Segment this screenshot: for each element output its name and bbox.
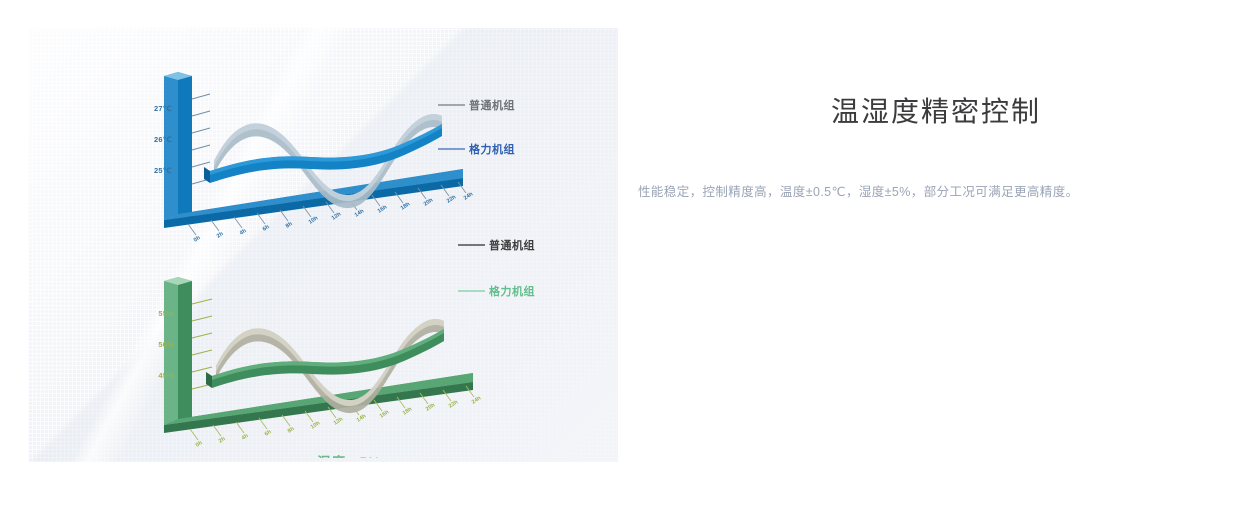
feature-text-column: 温湿度精密控制 性能稳定，控制精度高，温度±0.5℃，湿度±5%，部分工况可满足… (636, 92, 1236, 232)
x-tick-label: 14h (356, 413, 368, 424)
x-tick-label: 8h (287, 426, 296, 435)
legend-label-ordinary-unit: 普通机组 (469, 98, 515, 112)
x-tick-label: 16h (379, 409, 391, 420)
chart-caption-humidity: 湿度 ±5% (317, 454, 381, 458)
x-tick-label: 2h (218, 436, 227, 445)
x-tick-label: 24h (463, 191, 475, 202)
x-tick-label: 10h (310, 420, 322, 431)
x-tick-label: 20h (423, 197, 435, 208)
page-title: 温湿度精密控制 (636, 92, 1236, 132)
x-tick-label: 22h (446, 194, 458, 205)
y-tick-label: 25℃ (154, 166, 172, 175)
y-tick-label: 50% (158, 340, 174, 349)
x-tick-label: 24h (471, 395, 483, 406)
legend-temperature: 普通机组 格力机组 (438, 98, 515, 156)
legend-label-ordinary-unit: 普通机组 (489, 238, 535, 252)
y-tick-label: 55% (158, 309, 174, 318)
x-tick-label: 6h (264, 429, 273, 438)
y-tick-label: 27℃ (154, 104, 172, 113)
x-tick-label: 0h (195, 440, 204, 449)
y-axis-slab-humidity (164, 277, 192, 425)
x-tick-label: 16h (377, 204, 389, 215)
humidity-chart: 55% 50% 45% 0h 2h (28, 218, 618, 458)
temperature-chart: 27℃ 26℃ 25℃ 0h 2h (28, 28, 618, 248)
x-tick-label: 20h (425, 402, 437, 413)
legend-label-gree-unit: 格力机组 (469, 142, 515, 156)
legend-humidity: 普通机组 格力机组 (458, 238, 535, 298)
x-tick-label: 22h (448, 399, 460, 410)
y-axis-slab-temperature (164, 72, 192, 220)
y-tick-label: 45% (158, 371, 174, 380)
page-description: 性能稳定，控制精度高，温度±0.5℃，湿度±5%，部分工况可满足更高精度。 (638, 182, 1238, 202)
x-tick-label: 18h (400, 201, 412, 212)
x-tick-label: 4h (241, 433, 250, 442)
x-tick-label: 12h (333, 416, 345, 427)
illustration-panel: 27℃ 26℃ 25℃ 0h 2h (28, 28, 618, 462)
legend-label-gree-unit: 格力机组 (489, 284, 535, 298)
y-tick-label: 26℃ (154, 135, 172, 144)
x-tick-label: 18h (402, 406, 414, 417)
